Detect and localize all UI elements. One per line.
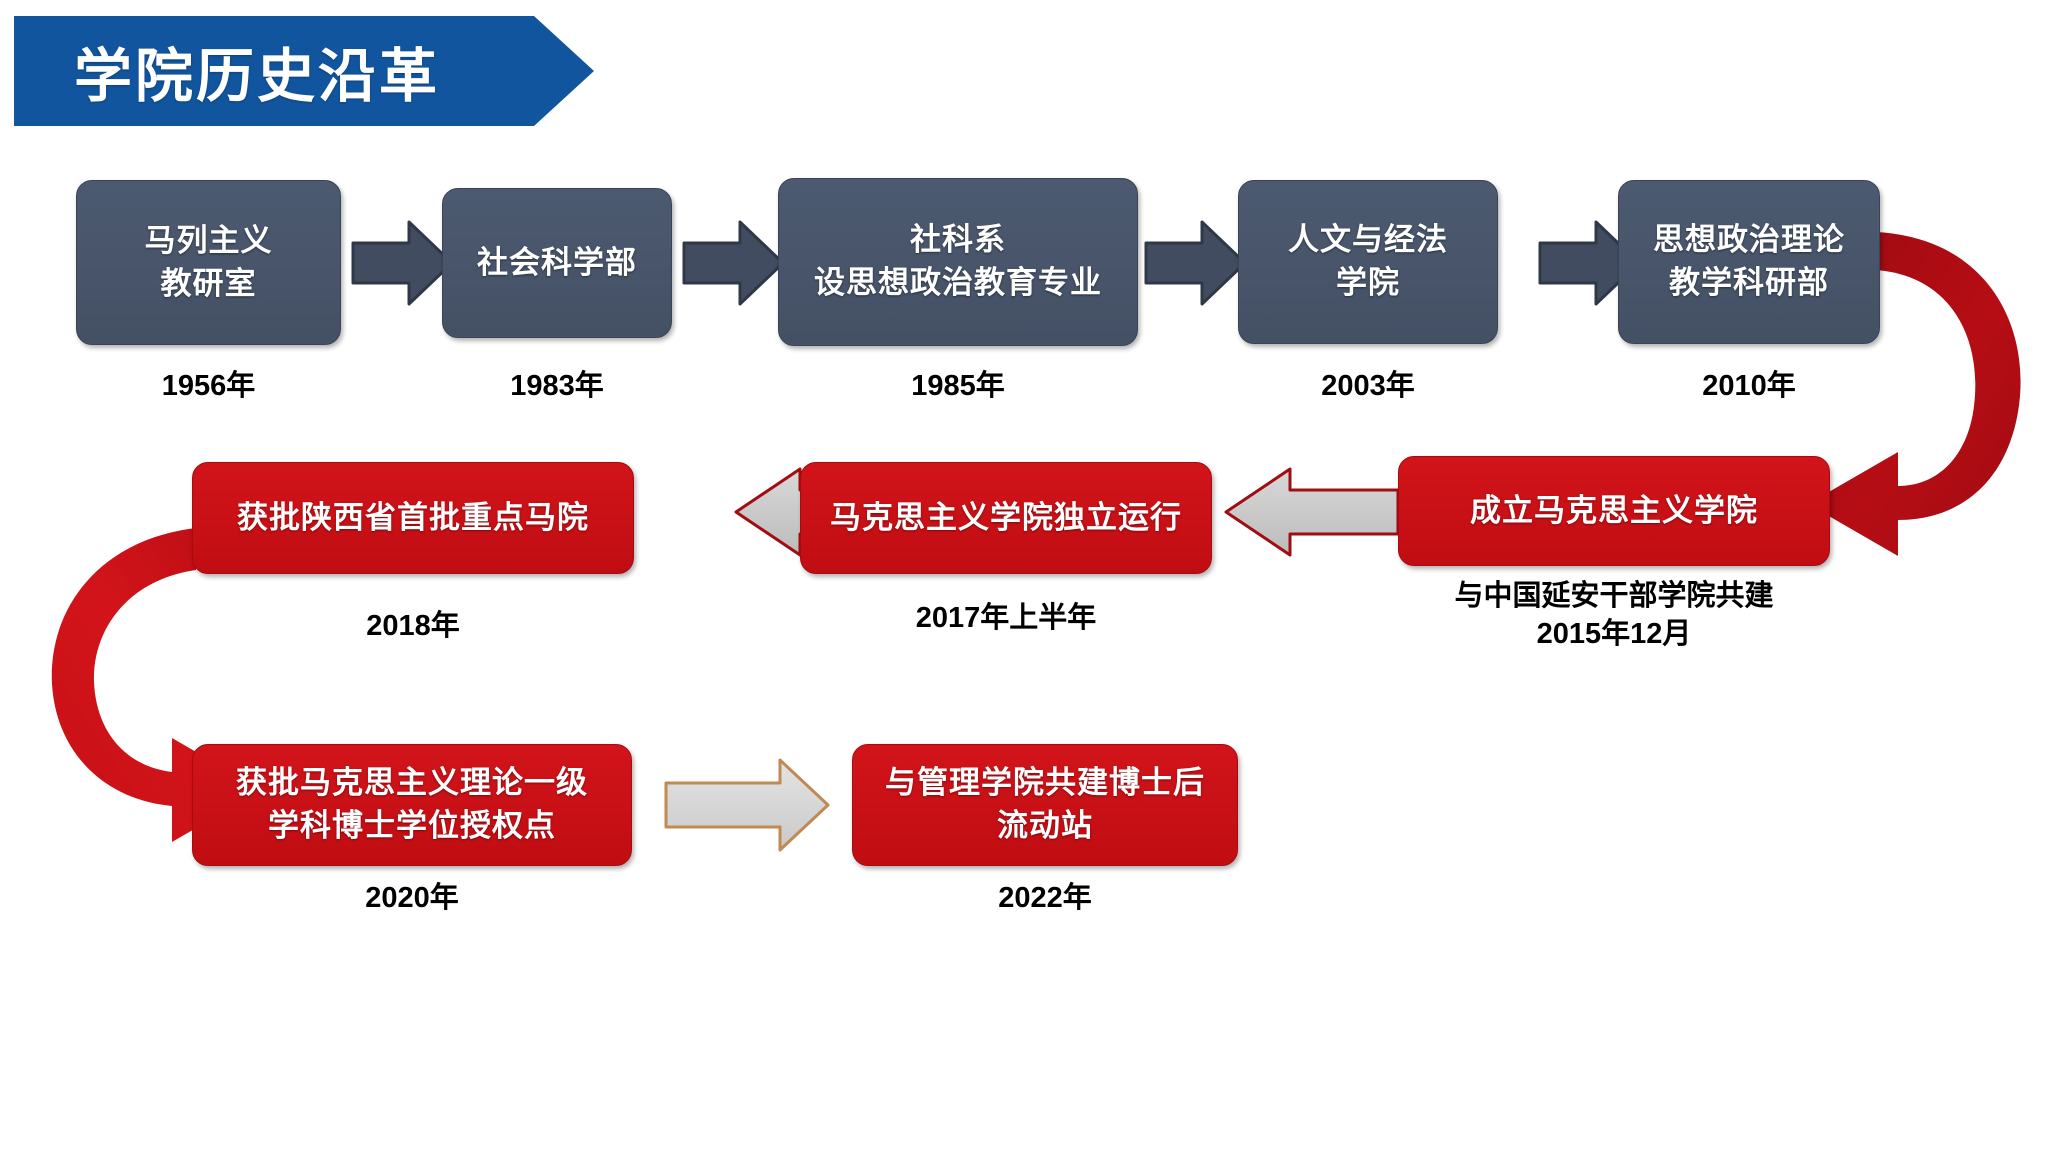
node-4-year: 2003年 (1238, 368, 1498, 406)
node-8-caption: 与中国延安干部学院共建 2015年12月 (1398, 578, 1830, 653)
node-3[interactable]: 社科系 设思想政治教育专业 (778, 178, 1138, 346)
arrow-layer (0, 0, 2048, 1152)
node-7[interactable]: 马克思主义学院独立运行 (800, 462, 1212, 574)
node-9-line-2: 学科博士学位授权点 (268, 805, 556, 848)
node-4[interactable]: 人文与经法 学院 (1238, 180, 1498, 344)
node-1-line-1: 马列主义 (145, 220, 273, 263)
node-10-line-2: 流动站 (997, 805, 1093, 848)
node-6[interactable]: 获批陕西省首批重点马院 (192, 462, 634, 574)
node-5-line-1: 思想政治理论 (1653, 219, 1845, 262)
node-3-line-2: 设思想政治教育专业 (814, 262, 1102, 305)
node-2[interactable]: 社会科学部 (442, 188, 672, 338)
arrow-right-beige (666, 760, 828, 850)
node-10[interactable]: 与管理学院共建博士后 流动站 (852, 744, 1238, 866)
node-7-caption: 2017年上半年 (800, 600, 1212, 638)
node-5[interactable]: 思想政治理论 教学科研部 (1618, 180, 1880, 344)
arrow-right-plain-1 (353, 222, 452, 304)
node-6-line-1: 获批陕西省首批重点马院 (237, 497, 589, 540)
node-9-line-1: 获批马克思主义理论一级 (236, 762, 588, 805)
node-10-caption: 2022年 (852, 880, 1238, 918)
slide-canvas: 学院历史沿革 (0, 0, 2048, 1152)
node-2-year: 1983年 (442, 368, 672, 406)
node-9-caption: 2020年 (192, 880, 632, 918)
node-3-year: 1985年 (778, 368, 1138, 406)
arrow-right-plain-2 (684, 222, 783, 304)
arrow-right-plain-3 (1146, 222, 1245, 304)
node-1-year: 1956年 (76, 368, 341, 406)
node-4-line-2: 学院 (1336, 262, 1400, 305)
node-1-line-2: 教研室 (161, 263, 257, 306)
node-1[interactable]: 马列主义 教研室 (76, 180, 341, 345)
node-7-line-1: 马克思主义学院独立运行 (830, 497, 1182, 540)
node-4-line-1: 人文与经法 (1288, 219, 1448, 262)
node-3-line-1: 社科系 (910, 219, 1006, 262)
node-6-caption: 2018年 (192, 608, 634, 646)
node-8[interactable]: 成立马克思主义学院 (1398, 456, 1830, 566)
node-10-line-1: 与管理学院共建博士后 (885, 762, 1205, 805)
node-2-line-1: 社会科学部 (477, 242, 637, 285)
page-title: 学院历史沿革 (74, 16, 440, 126)
title-banner: 学院历史沿革 (14, 16, 594, 126)
node-8-line-1: 成立马克思主义学院 (1470, 490, 1758, 533)
node-5-line-2: 教学科研部 (1669, 262, 1829, 305)
arrow-left-gray-2 (1226, 469, 1398, 555)
node-5-year: 2010年 (1618, 368, 1880, 406)
node-9[interactable]: 获批马克思主义理论一级 学科博士学位授权点 (192, 744, 632, 866)
